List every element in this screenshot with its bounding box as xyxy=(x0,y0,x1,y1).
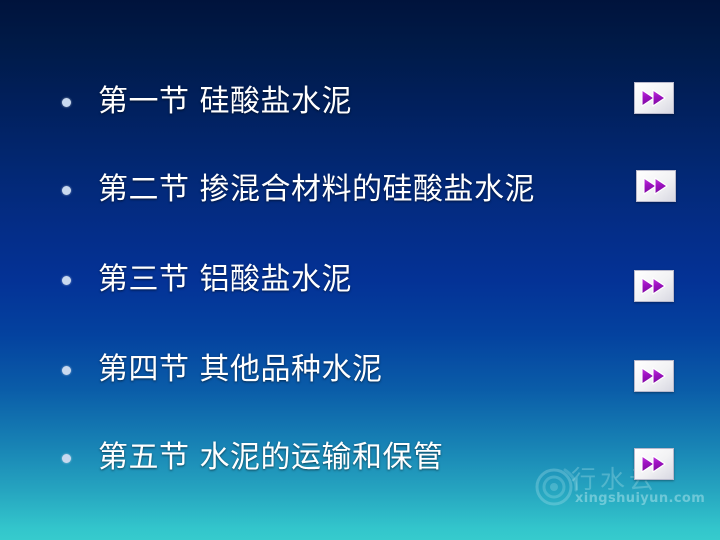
list-item[interactable]: 第一节 硅酸盐水泥 xyxy=(0,74,720,130)
bullet-dot-icon xyxy=(62,98,71,107)
list-item[interactable]: 第四节 其他品种水泥 xyxy=(0,342,720,398)
bullet-list: 第一节 硅酸盐水泥 第二节 掺混合材料的硅酸盐水泥 第三节 铝酸盐水泥 第四节 … xyxy=(0,0,720,540)
list-item-label: 第一节 硅酸盐水泥 xyxy=(98,81,352,123)
list-item-label: 第五节 水泥的运输和保管 xyxy=(98,437,444,479)
fast-forward-button-5[interactable] xyxy=(634,448,674,480)
list-item-label: 第四节 其他品种水泥 xyxy=(98,349,383,391)
fast-forward-icon xyxy=(641,89,667,107)
fast-forward-icon xyxy=(641,277,667,295)
list-item[interactable]: 第五节 水泥的运输和保管 xyxy=(0,430,720,486)
list-item[interactable]: 第二节 掺混合材料的硅酸盐水泥 xyxy=(0,162,720,218)
fast-forward-button-1[interactable] xyxy=(634,82,674,114)
list-item-label: 第三节 铝酸盐水泥 xyxy=(98,259,352,301)
fast-forward-button-4[interactable] xyxy=(634,360,674,392)
bullet-dot-icon xyxy=(62,276,71,285)
fast-forward-button-3[interactable] xyxy=(634,270,674,302)
bullet-dot-icon xyxy=(62,366,71,375)
fast-forward-icon xyxy=(643,177,669,195)
list-item-label: 第二节 掺混合材料的硅酸盐水泥 xyxy=(98,169,535,211)
bullet-dot-icon xyxy=(62,186,71,195)
presentation-slide: 行水云 xingshuiyun.com 第一节 硅酸盐水泥 第二节 掺混合材料的… xyxy=(0,0,720,540)
list-item[interactable]: 第三节 铝酸盐水泥 xyxy=(0,252,720,308)
bullet-dot-icon xyxy=(62,454,71,463)
fast-forward-button-2[interactable] xyxy=(636,170,676,202)
fast-forward-icon xyxy=(641,367,667,385)
fast-forward-icon xyxy=(641,455,667,473)
